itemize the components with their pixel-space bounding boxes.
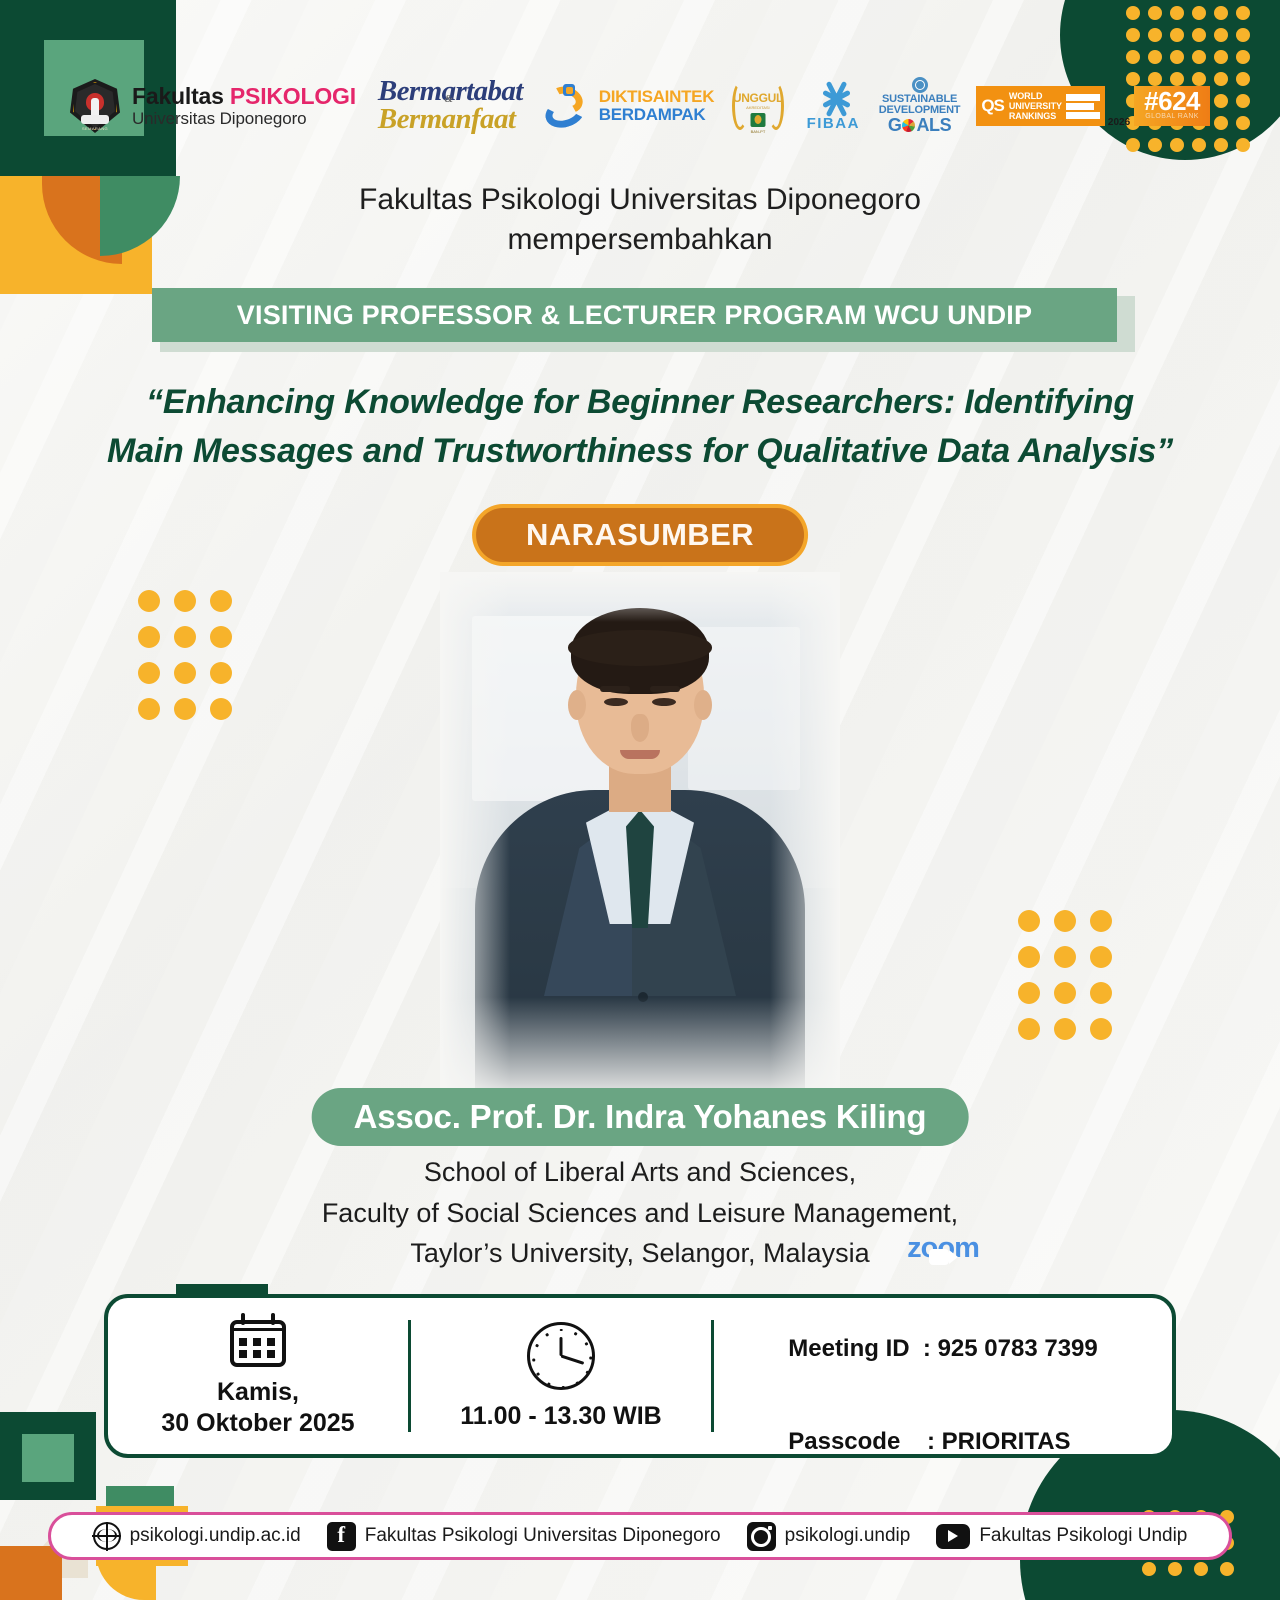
deco-dot [210, 590, 232, 612]
deco-dot [1214, 28, 1228, 42]
unggul-caption: BAN-PT [730, 129, 786, 134]
event-title-line-2: Main Messages and Trustworthiness for Qu… [40, 427, 1240, 476]
deco-dot [1214, 6, 1228, 20]
deco-dot [210, 698, 232, 720]
zoom-passcode: Passcode : PRIORITAS [788, 1426, 1098, 1457]
deco-dot [1168, 1562, 1182, 1576]
narasumber-badge: NARASUMBER [472, 504, 808, 566]
diktisaintek-swoosh-icon [543, 83, 591, 129]
deco-dot [1192, 6, 1206, 20]
faculty-word-fakultas: Fakultas [132, 83, 230, 109]
qs-logo-text: QS [981, 96, 1004, 116]
undip-seal-icon: SEMARANG [70, 79, 120, 133]
deco-dot [1090, 1018, 1112, 1040]
deco-dot [1236, 72, 1250, 86]
deco-dot [138, 626, 160, 648]
speaker-photo [440, 572, 840, 1117]
qs-world-university-rankings-logo: QS WORLD UNIVERSITY RANKINGS 2026 #624 G… [976, 86, 1210, 126]
deco-dot [1090, 982, 1112, 1004]
event-title: “Enhancing Knowledge for Beginner Resear… [40, 378, 1240, 477]
diktisaintek-logo: DIKTISAINTEK BERDAMPAK [543, 83, 714, 129]
deco-dot [1236, 94, 1250, 108]
deco-dot [1054, 1018, 1076, 1040]
footer-website[interactable]: psikologi.undip.ac.id [93, 1522, 301, 1550]
unggul-word: UNGGUL [730, 91, 786, 105]
time-column: 11.00 - 13.30 WIB [411, 1298, 711, 1454]
deco-dot [1214, 138, 1228, 152]
affiliation-line-2: Faculty of Social Sciences and Leisure M… [0, 1193, 1280, 1234]
deco-dot [1090, 910, 1112, 932]
deco-dot [1236, 138, 1250, 152]
deco-dot [1018, 946, 1040, 968]
speaker-affiliation: School of Liberal Arts and Sciences, Fac… [0, 1152, 1280, 1274]
deco-dot [1054, 946, 1076, 968]
poster-canvas: SEMARANG Fakultas PSIKOLOGI Universitas … [0, 0, 1280, 1600]
deco-dot [1214, 72, 1228, 86]
deco-dot [1054, 910, 1076, 932]
deco-dot [174, 698, 196, 720]
deco-dot [1214, 116, 1228, 130]
date-column: Kamis, 30 Oktober 2025 [108, 1298, 408, 1454]
youtube-icon [936, 1524, 970, 1549]
deco-right-dot-grid [1018, 910, 1126, 1054]
unggul-accreditation-logo: UNGGUL AKREDITASI BAN-PT [730, 78, 786, 134]
deco-dot [1018, 982, 1040, 1004]
deco-dot [1054, 982, 1076, 1004]
website-label: psikologi.undip.ac.id [130, 1525, 301, 1547]
deco-dot [1192, 28, 1206, 42]
event-details-card: Kamis, 30 Oktober 2025 11.00 - [104, 1294, 1176, 1458]
deco-dot [1148, 6, 1162, 20]
zoom-meeting-id: Meeting ID : 925 0783 7399 [788, 1333, 1098, 1364]
qs-line-university: UNIVERSITY [1009, 101, 1062, 111]
affiliation-line-3: Taylor’s University, Selangor, Malaysia [0, 1233, 1280, 1274]
speaker-name: Assoc. Prof. Dr. Indra Yohanes Kiling [354, 1098, 927, 1135]
deco-dot [1148, 50, 1162, 64]
footer-facebook[interactable]: Fakultas Psikologi Universitas Diponegor… [327, 1522, 721, 1551]
deco-dot [1148, 28, 1162, 42]
footer-youtube[interactable]: Fakultas Psikologi Undip [936, 1524, 1187, 1549]
youtube-label: Fakultas Psikologi Undip [979, 1525, 1187, 1547]
diktisaintek-line1: DIKTISAINTEK [599, 88, 714, 106]
footer-instagram[interactable]: psikologi.undip [747, 1522, 911, 1551]
program-band: VISITING PROFESSOR & LECTURER PROGRAM WC… [152, 288, 1127, 348]
rank-sublabel: GLOBAL RANK [1145, 113, 1199, 120]
fibaa-logo: FIBAA [804, 78, 863, 134]
unggul-seal-icon [750, 113, 765, 127]
faculty-university-line: Universitas Diponegoro [132, 109, 356, 128]
deco-dot [138, 590, 160, 612]
bermanfaat-text: Bermanfaat [378, 103, 515, 135]
narasumber-label: NARASUMBER [526, 517, 754, 552]
global-rank-badge: #624 GLOBAL RANK [1134, 86, 1210, 126]
deco-dot [174, 626, 196, 648]
diktisaintek-line2: BERDAMPAK [599, 106, 714, 124]
deco-dot [1126, 50, 1140, 64]
event-date: 30 Oktober 2025 [161, 1408, 354, 1440]
deco-dot [174, 590, 196, 612]
deco-dot [1214, 94, 1228, 108]
deco-dot [174, 662, 196, 684]
unggul-subtext: AKREDITASI [730, 105, 786, 110]
facebook-label: Fakultas Psikologi Universitas Diponegor… [365, 1525, 721, 1547]
deco-bottom-left-orange-block [0, 1546, 62, 1600]
deco-dot [1170, 50, 1184, 64]
bermartabat-bermanfaat-logo: Bermartabat & Bermanfaat [378, 78, 523, 134]
instagram-label: psikologi.undip [785, 1525, 911, 1547]
calendar-icon [230, 1313, 286, 1367]
ampersand-mark: & [445, 94, 453, 105]
deco-dot [1192, 50, 1206, 64]
deco-dot [1236, 6, 1250, 20]
sdg-goals-g: G [888, 115, 902, 135]
deco-dot [1236, 116, 1250, 130]
deco-dot [1236, 28, 1250, 42]
deco-dot [1170, 6, 1184, 20]
facebook-icon [327, 1522, 356, 1551]
intro-text: Fakultas Psikologi Universitas Diponegor… [0, 180, 1280, 259]
deco-bottom-left-inner-square [22, 1434, 74, 1482]
fibaa-x-icon [816, 80, 858, 116]
deco-dot [1170, 28, 1184, 42]
seal-text: SEMARANG [70, 126, 120, 131]
un-globe-icon [912, 77, 928, 93]
deco-dot [1236, 50, 1250, 64]
deco-dot [1220, 1562, 1234, 1576]
intro-line-1: Fakultas Psikologi Universitas Diponegor… [0, 180, 1280, 220]
deco-dot [138, 662, 160, 684]
deco-dot [1018, 1018, 1040, 1040]
fibaa-text: FIBAA [804, 115, 863, 132]
program-band-label: VISITING PROFESSOR & LECTURER PROGRAM WC… [237, 300, 1032, 331]
speaker-name-banner: Assoc. Prof. Dr. Indra Yohanes Kiling [312, 1088, 969, 1146]
deco-dot [1214, 50, 1228, 64]
zoom-column: zoom Meeting ID : 925 0783 7399 Passcode… [714, 1298, 1172, 1454]
event-title-line-1: “Enhancing Knowledge for Beginner Resear… [40, 378, 1240, 427]
deco-dot [1142, 1562, 1156, 1576]
deco-dot [1126, 28, 1140, 42]
event-day: Kamis, [161, 1377, 354, 1409]
faculty-wordmark: Fakultas PSIKOLOGI Universitas Diponegor… [132, 84, 356, 129]
deco-left-dot-grid [138, 590, 246, 734]
social-footer-bar: psikologi.undip.ac.id Fakultas Psikologi… [48, 1512, 1232, 1560]
deco-dot [1090, 946, 1112, 968]
faculty-word-psikologi: PSIKOLOGI [230, 83, 356, 109]
clock-icon [527, 1322, 595, 1390]
header-logo-row: SEMARANG Fakultas PSIKOLOGI Universitas … [70, 68, 1210, 144]
qs-line-rankings: RANKINGS [1009, 111, 1062, 121]
sdg-goals-als: ALS [916, 115, 951, 135]
deco-dot [210, 662, 232, 684]
affiliation-line-1: School of Liberal Arts and Sciences, [0, 1152, 1280, 1193]
qs-line-world: WORLD [1009, 91, 1062, 101]
globe-icon [93, 1522, 121, 1550]
instagram-icon [747, 1522, 776, 1551]
deco-dot [1194, 1562, 1208, 1576]
sdg-logo: SUSTAINABLE DEVELOPMENT GALS [879, 77, 961, 135]
deco-dot [1018, 910, 1040, 932]
intro-line-2: mempersembahkan [0, 220, 1280, 260]
deco-dot [210, 626, 232, 648]
deco-dot [1126, 6, 1140, 20]
qs-year: 2026 [1108, 117, 1130, 128]
rank-number: #624 [1144, 90, 1200, 114]
qs-bars-icon [1066, 94, 1100, 119]
deco-dot [138, 698, 160, 720]
sdg-color-wheel-icon [902, 119, 915, 132]
event-time: 11.00 - 13.30 WIB [460, 1402, 662, 1431]
